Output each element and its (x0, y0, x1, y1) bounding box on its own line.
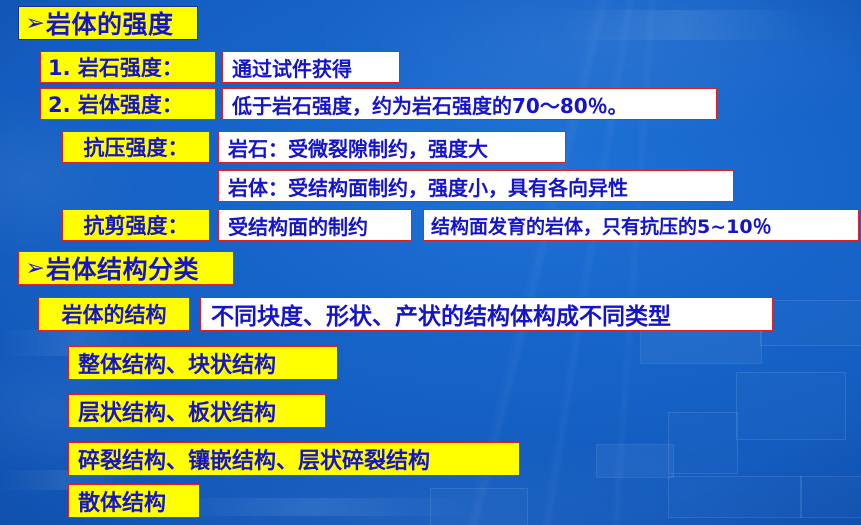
section-heading-rock-mass-strength: ➢ 岩体的强度 (18, 6, 198, 40)
label-rock-strength: 1. 岩石强度： (40, 51, 216, 83)
section-heading-label-2: 岩体结构分类 (46, 250, 199, 286)
label-compressive-strength: 抗压强度： (62, 131, 210, 163)
value-compressive-strength-rock-mass: 岩体：受结构面制约，强度小，具有各向异性 (218, 170, 734, 202)
structure-item-1: 整体结构、块状结构 (68, 346, 338, 380)
label-rock-mass-strength: 2. 岩体强度： (40, 88, 216, 120)
bullet-arrow-icon-2: ➢ (26, 256, 46, 281)
slide-content: ➢ 岩体的强度 1. 岩石强度： 通过试件获得 2. 岩体强度： 低于岩石强度，… (0, 0, 861, 525)
structure-item-2: 层状结构、板状结构 (68, 394, 326, 428)
value-rock-strength: 通过试件获得 (222, 51, 400, 83)
label-rock-mass-structure: 岩体的结构 (38, 297, 190, 331)
slide-canvas: ➢ 岩体的强度 1. 岩石强度： 通过试件获得 2. 岩体强度： 低于岩石强度，… (0, 0, 861, 525)
value-rock-mass-structure: 不同块度、形状、产状的结构体构成不同类型 (200, 297, 773, 331)
value-rock-mass-strength: 低于岩石强度，约为岩石强度的70～80％。 (222, 88, 717, 120)
value-compressive-strength-rock: 岩石：受微裂隙制约，强度大 (218, 131, 566, 163)
section-heading-label: 岩体的强度 (46, 5, 174, 41)
section-heading-structure-classification: ➢ 岩体结构分类 (18, 251, 234, 285)
structure-item-4: 散体结构 (68, 484, 200, 518)
bullet-arrow-icon: ➢ (26, 11, 46, 36)
value-shear-strength-constraint: 受结构面的制约 (218, 209, 412, 241)
structure-item-3: 碎裂结构、镶嵌结构、层状碎裂结构 (68, 442, 520, 476)
value-shear-strength-percentage: 结构面发育的岩体，只有抗压的5~10％ (423, 209, 859, 241)
label-shear-strength: 抗剪强度： (62, 209, 210, 241)
